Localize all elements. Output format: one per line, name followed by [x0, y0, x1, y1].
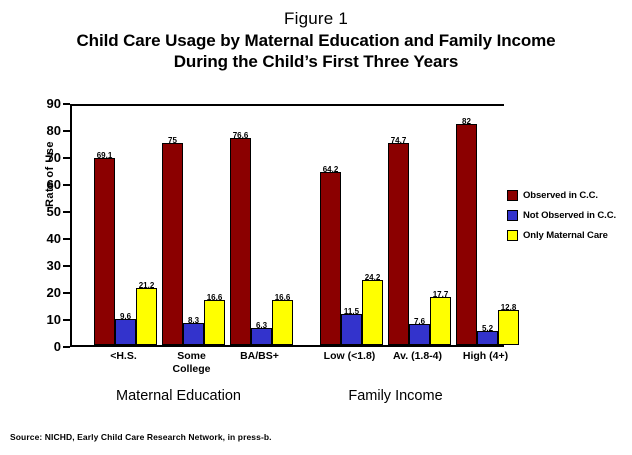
- figure-title-line-2: During the Child’s First Three Years: [0, 51, 632, 72]
- bar: [456, 124, 477, 345]
- y-axis-tick-label: 30: [21, 260, 61, 272]
- x-axis-category-labels: <H.S.SomeCollegeBA/BS+Low (<1.8)Av. (1.8…: [70, 350, 504, 390]
- legend-item: Not Observed in C.C.: [507, 210, 632, 221]
- bar: [136, 288, 157, 345]
- bar: [204, 300, 225, 345]
- legend-item: Observed in C.C.: [507, 190, 632, 201]
- group-title-family-income: Family Income: [287, 388, 504, 404]
- category-label-line-2: College: [138, 363, 245, 376]
- bar: [498, 310, 519, 345]
- bar-value-label: 82: [450, 117, 483, 126]
- legend-swatch-icon: [507, 190, 518, 201]
- bar-value-label: 12.8: [492, 303, 525, 312]
- legend-swatch-icon: [507, 210, 518, 221]
- bar-value-label: 74.7: [382, 136, 415, 145]
- y-axis-title: Rate of Use: [44, 104, 56, 244]
- bar: [409, 324, 430, 345]
- source-note: Source: NICHD, Early Child Care Research…: [10, 432, 272, 442]
- y-axis-tick-mark: [63, 157, 70, 159]
- bars-container: 69.19.621.2758.316.676.66.316.664.211.52…: [72, 106, 504, 345]
- category-label-line-1: High (4+): [432, 350, 539, 363]
- bar: [115, 319, 136, 345]
- figure-title-block: Figure 1 Child Care Usage by Maternal Ed…: [0, 8, 632, 72]
- bar-value-label: 17.7: [424, 290, 457, 299]
- bar-value-label: 24.2: [356, 273, 389, 282]
- bar: [230, 138, 251, 345]
- y-axis-tick-label: 0: [21, 341, 61, 353]
- y-axis-tick-mark: [63, 319, 70, 321]
- bar: [272, 300, 293, 345]
- y-axis-ticks: 9080706050403020100: [0, 104, 70, 347]
- bar: [430, 297, 451, 345]
- bar-value-label: 64.2: [314, 165, 347, 174]
- y-axis-tick-mark: [63, 292, 70, 294]
- legend-swatch-icon: [507, 230, 518, 241]
- x-axis-category-label: High (4+): [432, 350, 539, 363]
- y-axis-tick-mark: [63, 184, 70, 186]
- bar: [341, 314, 362, 345]
- legend-label: Not Observed in C.C.: [523, 210, 616, 221]
- legend-label: Only Maternal Care: [523, 230, 608, 241]
- bar: [477, 331, 498, 345]
- bar-value-label: 75: [156, 136, 189, 145]
- bar: [183, 323, 204, 345]
- bar-value-label: 21.2: [130, 281, 163, 290]
- y-axis-tick-mark: [63, 346, 70, 348]
- y-axis-tick-mark: [63, 265, 70, 267]
- bar: [388, 143, 409, 345]
- y-axis-tick-mark: [63, 211, 70, 213]
- bar-value-label: 16.6: [266, 293, 299, 302]
- y-axis-tick-label: 10: [21, 314, 61, 326]
- y-axis-tick-mark: [63, 238, 70, 240]
- bar: [251, 328, 272, 345]
- legend-item: Only Maternal Care: [507, 230, 632, 241]
- legend-label: Observed in C.C.: [523, 190, 598, 201]
- bar: [362, 280, 383, 345]
- plot-area: 69.19.621.2758.316.676.66.316.664.211.52…: [70, 104, 504, 347]
- bar-value-label: 69.1: [88, 151, 121, 160]
- chart-legend: Observed in C.C.Not Observed in C.C.Only…: [507, 190, 632, 250]
- y-axis-tick-mark: [63, 130, 70, 132]
- group-title-maternal-education: Maternal Education: [70, 388, 287, 404]
- y-axis-tick-mark: [63, 103, 70, 105]
- figure-title-line-1: Child Care Usage by Maternal Education a…: [0, 30, 632, 51]
- bar: [320, 172, 341, 345]
- figure-number: Figure 1: [0, 8, 632, 30]
- bar-value-label: 76.6: [224, 131, 257, 140]
- bar-value-label: 16.6: [198, 293, 231, 302]
- y-axis-tick-label: 20: [21, 287, 61, 299]
